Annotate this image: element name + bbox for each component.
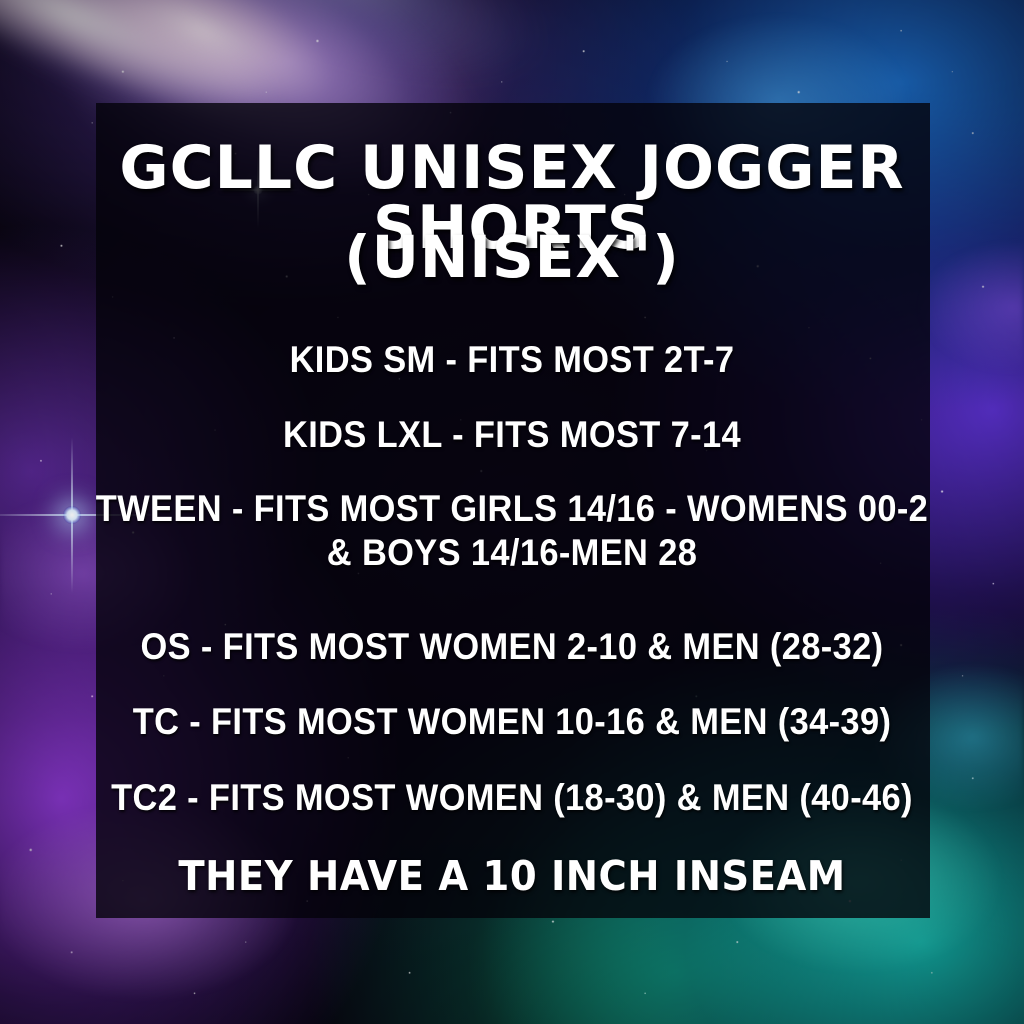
sizing-line-tc: TC - FITS MOST WOMEN 10-16 & MEN (34-39) [36, 700, 988, 744]
sizing-line-tween: TWEEN - FITS MOST GIRLS 14/16 - WOMENS 0… [36, 487, 988, 576]
inseam-note: THEY HAVE A 10 INCH INSEAM [31, 852, 994, 900]
sizing-line-kids-lxl: KIDS LXL - FITS MOST 7-14 [36, 413, 988, 457]
sizing-line-os: OS - FITS MOST WOMEN 2-10 & MEN (28-32) [36, 625, 988, 669]
text-content: GCLLC UNISEX JOGGER SHORTS (UNISEX") KID… [0, 0, 1024, 1024]
size-chart-graphic: GCLLC UNISEX JOGGER SHORTS (UNISEX") KID… [0, 0, 1024, 1024]
sizing-line-kids-sm: KIDS SM - FITS MOST 2T-7 [36, 338, 988, 382]
page-subtitle: (UNISEX") [0, 228, 1024, 286]
sizing-line-tc2: TC2 - FITS MOST WOMEN (18-30) & MEN (40-… [36, 776, 988, 820]
